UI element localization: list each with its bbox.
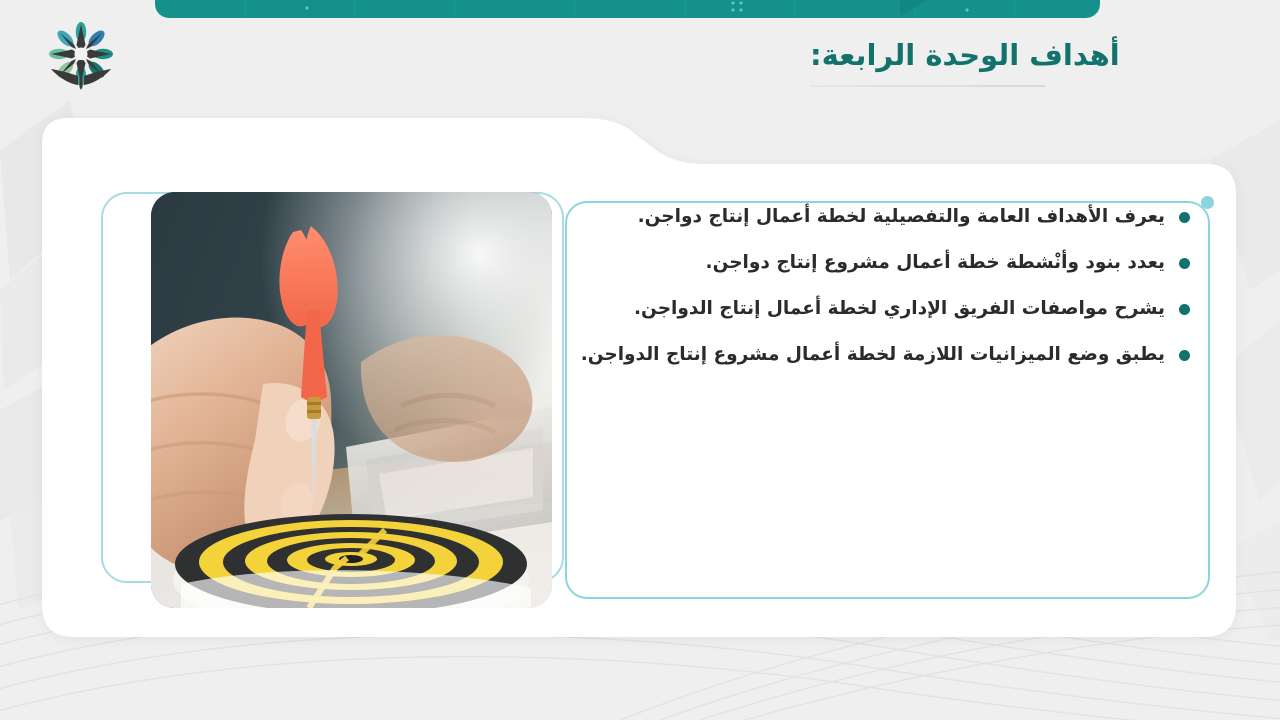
academy-star-logo [40, 18, 122, 100]
objective-text: يطبق وضع الميزانيات اللازمة لخطة أعمال م… [581, 343, 1165, 368]
title-underline [810, 85, 1045, 87]
objective-text: يعدد بنود وأنْشطة خطة أعمال مشروع إنتاج … [706, 251, 1165, 276]
photo-illustration [151, 192, 552, 608]
panel-accent-dot [1201, 196, 1214, 209]
list-item: يعرف الأهداف العامة والتفصيلية لخطة أعما… [600, 205, 1190, 229]
bullet-dot-icon [1179, 258, 1190, 269]
bullet-dot-icon [1179, 350, 1190, 361]
top-accent-bar [155, 0, 1100, 18]
objective-text: يعرف الأهداف العامة والتفصيلية لخطة أعما… [638, 205, 1165, 230]
page-title-block: أهداف الوحدة الرابعة: [810, 38, 1230, 87]
dart-and-target-photo [151, 192, 552, 608]
objectives-list: يعرف الأهداف العامة والتفصيلية لخطة أعما… [600, 205, 1190, 389]
list-item: يشرح مواصفات الفريق الإداري لخطة أعمال إ… [600, 297, 1190, 321]
page-title: أهداف الوحدة الرابعة: [810, 38, 1230, 73]
bullet-dot-icon [1179, 212, 1190, 223]
objective-text: يشرح مواصفات الفريق الإداري لخطة أعمال إ… [634, 297, 1165, 322]
top-bar-decoration [155, 0, 1100, 18]
list-item: يعدد بنود وأنْشطة خطة أعمال مشروع إنتاج … [600, 251, 1190, 275]
list-item: يطبق وضع الميزانيات اللازمة لخطة أعمال م… [600, 343, 1190, 367]
bullet-dot-icon [1179, 304, 1190, 315]
